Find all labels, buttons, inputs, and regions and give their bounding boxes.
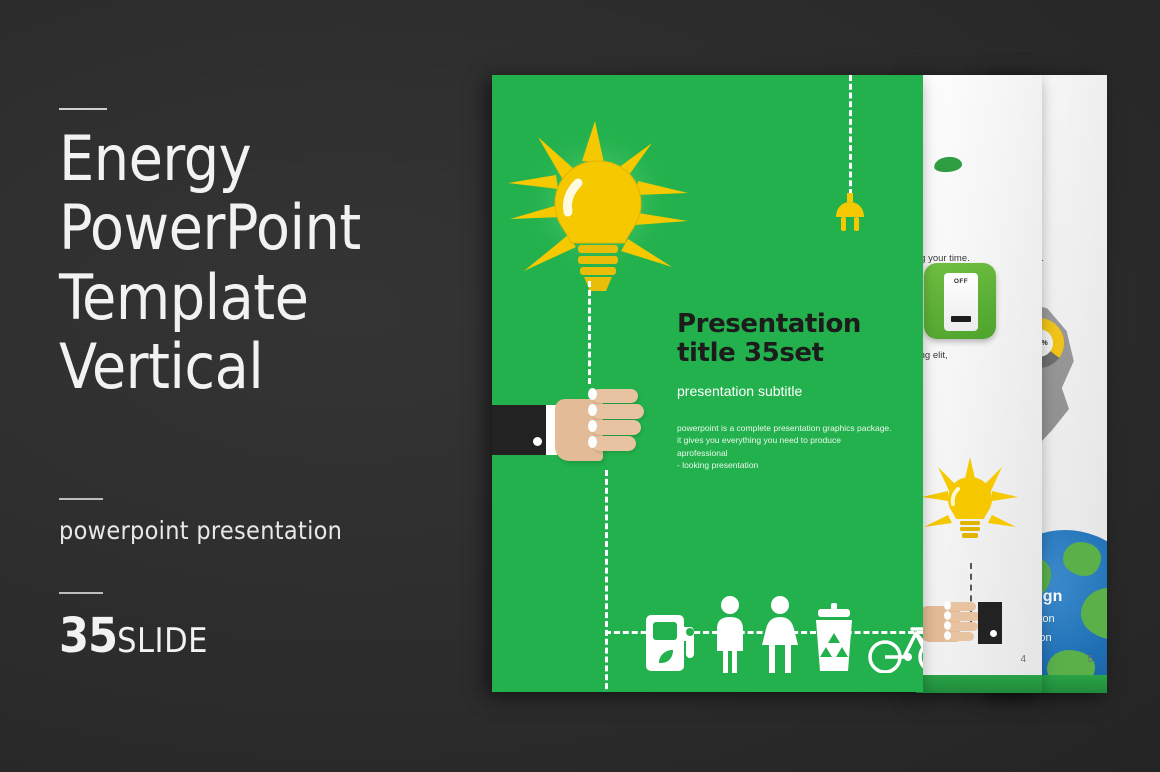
cuff-button-icon [533,437,542,446]
leaf-icon [933,156,962,174]
suit-cuff [492,405,546,455]
finger-1 [592,389,638,403]
light-switch-icon[interactable]: OFF [924,263,996,339]
mini-cuff-dot [990,630,997,637]
switch-plate: OFF [944,273,978,331]
main-slide-preview[interactable]: Presentation title 35set presentation su… [492,75,923,692]
plug-cord [849,75,852,195]
page-title: Energy PowerPoint Template Vertical [59,124,459,402]
mini-cuff [978,602,1002,644]
product-headline-block: Energy PowerPoint Template Vertical [59,108,459,402]
man-figure-icon [712,595,748,673]
donut-unit: % [1041,340,1047,347]
mini-hand-icon [916,600,1006,644]
woman-figure-icon [760,595,800,673]
eco-icon-row [644,595,923,673]
mini-finger-2 [948,612,980,621]
finger-3 [592,420,641,435]
recycle-bin-icon [812,603,856,673]
light-bulb-icon [502,115,692,335]
headline-rule [59,108,107,110]
landmass-2 [1063,542,1101,576]
slide-count-rule [59,592,103,594]
preview4-page-number: 4 [1020,654,1026,665]
nail-3 [588,420,597,432]
power-plug-icon [830,193,870,233]
mini-nail-3 [944,621,951,630]
slide-count-block: 35 SLIDE [59,592,208,664]
mini-finger-4 [948,632,974,641]
mini-nail-4 [944,631,951,640]
bulb-to-hand-cord [588,281,591,384]
preview-slide-4[interactable]: ving your time. scing elit, OFF [916,75,1042,693]
product-tagline: powerpoint presentation [59,516,342,545]
slide-title: Presentation title 35set [677,310,861,368]
tagline-rule [59,498,103,500]
nail-1 [588,388,597,400]
hand-down-cord [605,470,608,692]
mini-finger-3 [948,622,978,631]
switch-rocker[interactable] [951,316,971,322]
product-tagline-block: powerpoint presentation [59,498,342,545]
landmass-3 [1081,588,1107,640]
nail-4 [588,436,597,448]
preview5-page-number: 5 [1087,654,1093,665]
bicycle-icon [868,619,923,673]
slide-count-number: 35 [59,608,117,664]
nail-2 [588,404,597,416]
eco-fuel-pump-icon [644,611,700,673]
finger-4 [592,436,636,451]
mini-nail-2 [944,611,951,620]
finger-2 [592,404,644,419]
slide-count-word: SLIDE [117,621,208,661]
mini-nail-1 [944,601,951,610]
mini-finger-1 [948,602,976,611]
switch-off-label: OFF [944,278,978,285]
hand-icon [492,387,637,463]
slide-body-text: powerpoint is a complete presentation gr… [677,422,892,471]
slide-subtitle: presentation subtitle [677,383,802,399]
preview4-footer-bar [916,675,1042,693]
mini-light-bulb-icon [922,457,1018,563]
